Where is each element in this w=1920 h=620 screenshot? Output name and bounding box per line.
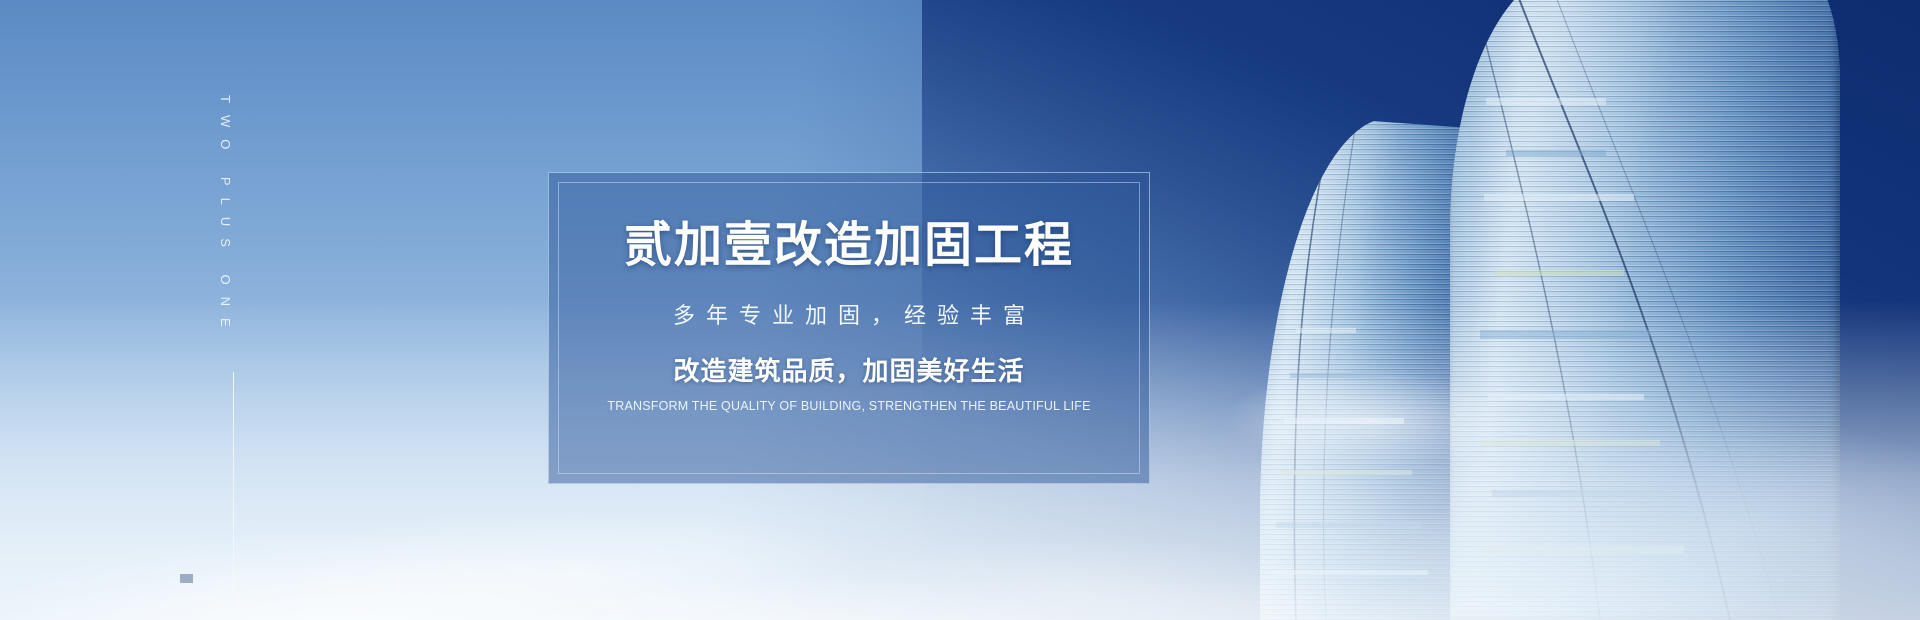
tower-window-strip	[1486, 98, 1606, 105]
hero-banner: TWO PLUS ONE 贰加壹改造加固工程 多年专业加固，经验丰富 改造建筑品…	[0, 0, 1920, 620]
tower-spiral-mullion	[1260, 118, 1470, 620]
tower-window-strip	[1480, 330, 1650, 339]
slogan-text: 改造建筑品质，加固美好生活	[673, 358, 1024, 384]
tower-window-strip	[1488, 394, 1644, 400]
tower-window-strip	[1290, 373, 1386, 378]
tower-window-strip	[1484, 194, 1634, 201]
tower-window-strip	[1296, 328, 1356, 333]
tower-window-strip	[1506, 150, 1606, 156]
tower-window-strip	[1494, 270, 1624, 276]
small-mark-icon	[180, 574, 193, 583]
vertical-brand-text: TWO PLUS ONE	[218, 95, 233, 339]
page-title: 贰加壹改造加固工程	[624, 222, 1074, 270]
tower-window-strip	[1284, 418, 1404, 424]
hero-text-panel: 贰加壹改造加固工程 多年专业加固，经验丰富 改造建筑品质，加固美好生活 TRAN…	[548, 172, 1150, 484]
tower-window-strip	[1280, 470, 1412, 475]
skyscrapers-group	[1220, 0, 1920, 620]
curved-glass-tower-right	[1450, 0, 1840, 620]
tower-window-strip	[1276, 522, 1422, 528]
curved-glass-tower-left	[1260, 118, 1470, 620]
tower-window-strip	[1480, 440, 1660, 446]
tower-window-strip	[1272, 570, 1428, 575]
page-subtitle: 多年专业加固，经验丰富	[662, 305, 1036, 327]
tower-window-strip	[1484, 546, 1684, 554]
tower-window-strip	[1492, 490, 1662, 497]
slogan-english-text: TRANSFORM THE QUALITY OF BUILDING, STREN…	[607, 400, 1090, 413]
tower-spiral-mullion	[1450, 0, 1840, 620]
vertical-divider-line	[233, 372, 234, 620]
hero-text-panel-inner-border: 贰加壹改造加固工程 多年专业加固，经验丰富 改造建筑品质，加固美好生活 TRAN…	[558, 182, 1140, 474]
